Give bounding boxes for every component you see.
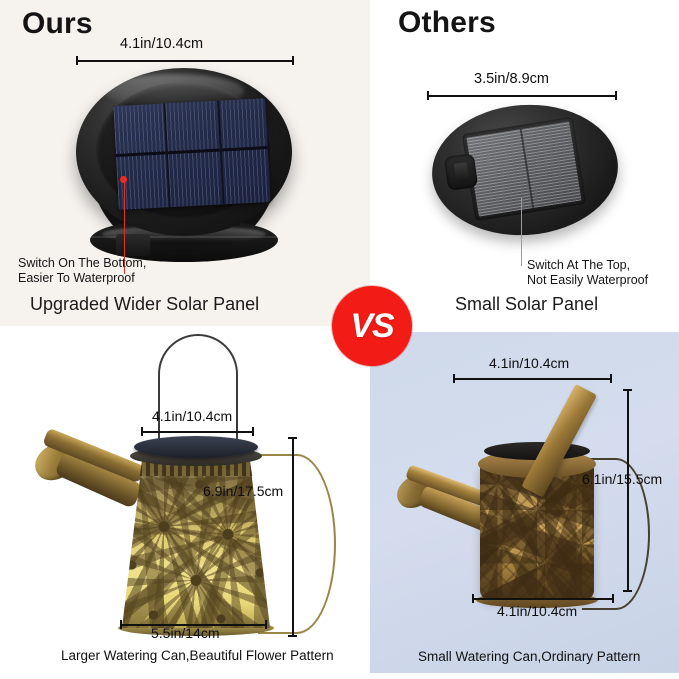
oval-solar-inset bbox=[462, 117, 586, 221]
lid-top-surface bbox=[76, 68, 292, 236]
ours-can-side-handle bbox=[258, 454, 336, 634]
ours-switch-annotation: Switch On The Bottom, Easier To Waterpro… bbox=[18, 256, 146, 286]
others-can-top-width-dimension bbox=[453, 374, 612, 383]
others-switch-leader-line bbox=[521, 198, 522, 266]
ours-can-caption: Larger Watering Can,Beautiful Flower Pat… bbox=[61, 648, 334, 663]
others-can-caption: Small Watering Can,Ordinary Pattern bbox=[418, 649, 640, 664]
flower-pattern bbox=[122, 456, 270, 628]
ours-solar-cell-array bbox=[113, 98, 270, 210]
others-can-base-width-dimension bbox=[472, 594, 614, 603]
ours-can-solar-lid bbox=[134, 436, 258, 458]
vs-badge: VS bbox=[332, 286, 412, 366]
others-can-height-label: 6.1in/15.5cm bbox=[582, 471, 662, 487]
ours-solar-width-label: 4.1in/10.4cm bbox=[120, 36, 203, 52]
others-can-height-dimension bbox=[623, 389, 632, 592]
bottom-switch bbox=[116, 234, 150, 256]
top-switch bbox=[444, 153, 478, 191]
heading-ours: Ours bbox=[22, 7, 93, 41]
ours-switch-pointer-dot bbox=[120, 176, 127, 183]
ours-solar-lid-photo bbox=[76, 68, 292, 264]
others-can-base-width-label: 4.1in/10.4cm bbox=[497, 603, 577, 619]
ours-can-top-width-label: 4.1in/10.4cm bbox=[152, 408, 232, 424]
ours-can-body bbox=[122, 456, 270, 628]
others-solar-cell-array bbox=[466, 121, 581, 216]
ours-annotation-line-2: Easier To Waterproof bbox=[18, 271, 146, 286]
ours-can-height-dimension bbox=[288, 437, 297, 637]
others-solar-caption: Small Solar Panel bbox=[455, 294, 598, 315]
ours-can-base-width-label: 5.5in/14cm bbox=[151, 625, 219, 641]
others-annotation-line-2: Not Easily Waterproof bbox=[527, 273, 648, 288]
ours-solar-caption: Upgraded Wider Solar Panel bbox=[30, 294, 259, 315]
others-annotation-line-1: Switch At The Top, bbox=[527, 258, 648, 273]
vs-label: VS bbox=[350, 309, 393, 343]
others-switch-annotation: Switch At The Top, Not Easily Waterproof bbox=[527, 258, 648, 288]
others-solar-lid-photo bbox=[432, 105, 618, 235]
others-can-top-width-label: 4.1in/10.4cm bbox=[489, 355, 569, 371]
others-solar-width-label: 3.5in/8.9cm bbox=[474, 71, 549, 87]
heading-others: Others bbox=[398, 6, 496, 40]
ours-can-height-label: 6.9in/17.5cm bbox=[203, 483, 283, 499]
product-comparison-image: Ours Others 4.1in/10.4cm Switch On The B… bbox=[0, 0, 679, 679]
ours-annotation-line-1: Switch On The Bottom, bbox=[18, 256, 146, 271]
ours-solar-width-dimension bbox=[76, 56, 294, 65]
others-solar-width-dimension bbox=[427, 91, 617, 100]
ours-can-top-width-dimension bbox=[141, 427, 254, 436]
others-watering-can-photo bbox=[392, 380, 652, 630]
